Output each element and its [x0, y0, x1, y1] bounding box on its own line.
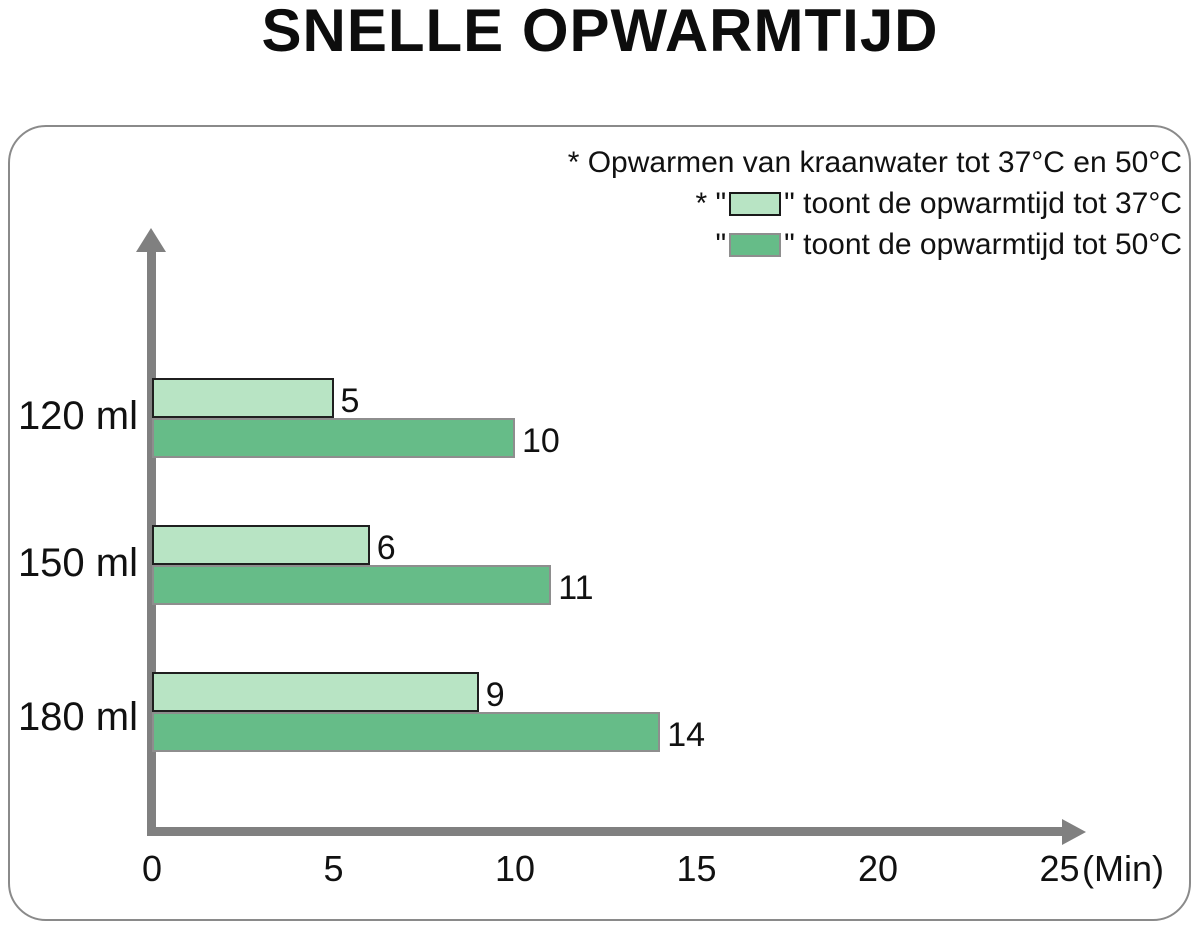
legend-entry-50c: "" toont de opwarmtijd tot 50°C — [470, 224, 1182, 265]
chart-canvas: SNELLE OPWARMTIJD * Opwarmen van kraanwa… — [0, 0, 1200, 928]
legend-quote-open-50c: " — [715, 228, 726, 261]
chart-legend: * Opwarmen van kraanwater tot 37°C en 50… — [470, 142, 1182, 265]
dark-green-swatch — [729, 233, 781, 257]
legend-text-50c: toont de opwarmtijd tot 50°C — [803, 228, 1182, 261]
legend-asterisk-37c: * — [695, 187, 707, 220]
light-green-swatch — [729, 192, 781, 216]
page-title: SNELLE OPWARMTIJD — [0, 0, 1200, 65]
legend-quote-close-37c: " — [784, 187, 795, 220]
legend-entry-37c: * "" toont de opwarmtijd tot 37°C — [470, 183, 1182, 224]
legend-text-37c: toont de opwarmtijd tot 37°C — [803, 187, 1182, 220]
legend-quote-close-50c: " — [784, 228, 795, 261]
legend-quote-open-37c: " — [715, 187, 726, 220]
legend-note: * Opwarmen van kraanwater tot 37°C en 50… — [470, 142, 1182, 183]
